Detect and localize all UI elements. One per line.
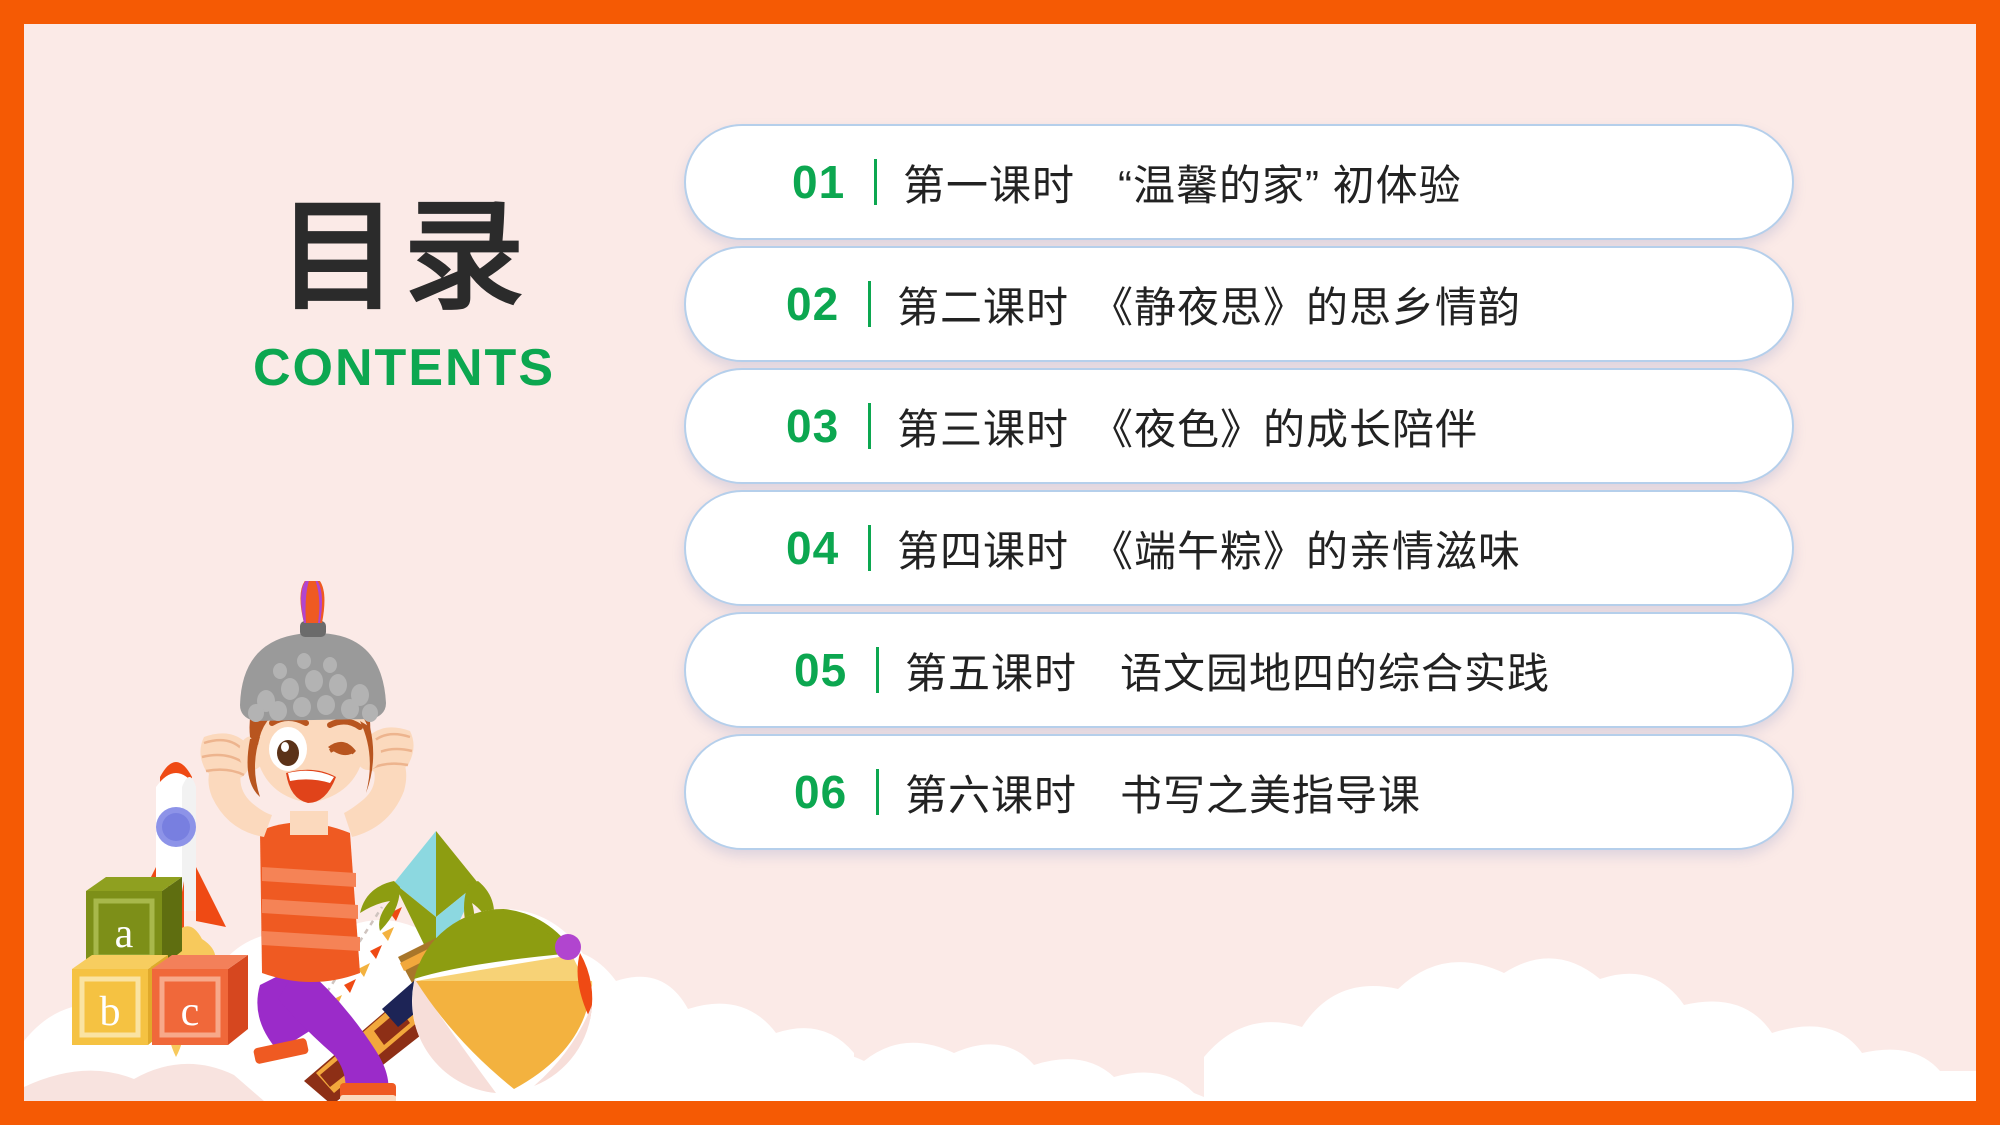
list-item-label: 第六课时 书写之美指导课 bbox=[905, 762, 1421, 823]
list-item-number: 02 bbox=[786, 277, 854, 331]
list-item[interactable]: 01 第一课时 “温馨的家” 初体验 bbox=[684, 124, 1794, 240]
list-item[interactable]: 03 第三课时 《夜色》的成长陪伴 bbox=[684, 368, 1794, 484]
list-item-number: 03 bbox=[786, 399, 854, 453]
list-item-label: 第二课时 《静夜思》的思乡情韵 bbox=[897, 274, 1521, 335]
divider bbox=[874, 159, 877, 205]
slide-canvas: 目录 CONTENTS 01 第一课时 “温馨的家” 初体验 02 第二课时 《… bbox=[24, 24, 1976, 1101]
list-item-label: 第一课时 “温馨的家” 初体验 bbox=[903, 152, 1462, 213]
list-item[interactable]: 06 第六课时 书写之美指导课 bbox=[684, 734, 1794, 850]
list-item-number: 05 bbox=[794, 643, 862, 697]
divider bbox=[868, 525, 871, 571]
list-item-label: 第三课时 《夜色》的成长陪伴 bbox=[897, 396, 1478, 457]
beach-ball-icon bbox=[412, 909, 596, 1093]
page-title-en: CONTENTS bbox=[144, 338, 664, 398]
page-title-cn: 目录 bbox=[144, 194, 664, 320]
contents-list: 01 第一课时 “温馨的家” 初体验 02 第二课时 《静夜思》的思乡情韵 03… bbox=[684, 124, 1794, 856]
svg-text:c: c bbox=[181, 989, 200, 1035]
list-item-number: 04 bbox=[786, 521, 854, 575]
page-title: 目录 CONTENTS bbox=[144, 194, 664, 398]
list-item-label: 第五课时 语文园地四的综合实践 bbox=[905, 640, 1550, 701]
list-item[interactable]: 05 第五课时 语文园地四的综合实践 bbox=[684, 612, 1794, 728]
list-item[interactable]: 02 第二课时 《静夜思》的思乡情韵 bbox=[684, 246, 1794, 362]
slide-root: 目录 CONTENTS 01 第一课时 “温馨的家” 初体验 02 第二课时 《… bbox=[0, 0, 2000, 1125]
svg-text:b: b bbox=[100, 989, 121, 1035]
divider bbox=[868, 403, 871, 449]
divider bbox=[876, 769, 879, 815]
divider bbox=[868, 281, 871, 327]
list-item-number: 01 bbox=[792, 155, 860, 209]
list-item[interactable]: 04 第四课时 《端午粽》的亲情滋味 bbox=[684, 490, 1794, 606]
list-item-number: 06 bbox=[794, 765, 862, 819]
divider bbox=[876, 647, 879, 693]
svg-text:a: a bbox=[115, 911, 134, 957]
list-item-label: 第四课时 《端午粽》的亲情滋味 bbox=[897, 518, 1521, 579]
illustration-group: a b c bbox=[64, 581, 684, 1101]
alphabet-blocks-icon: a b c bbox=[72, 877, 248, 1045]
